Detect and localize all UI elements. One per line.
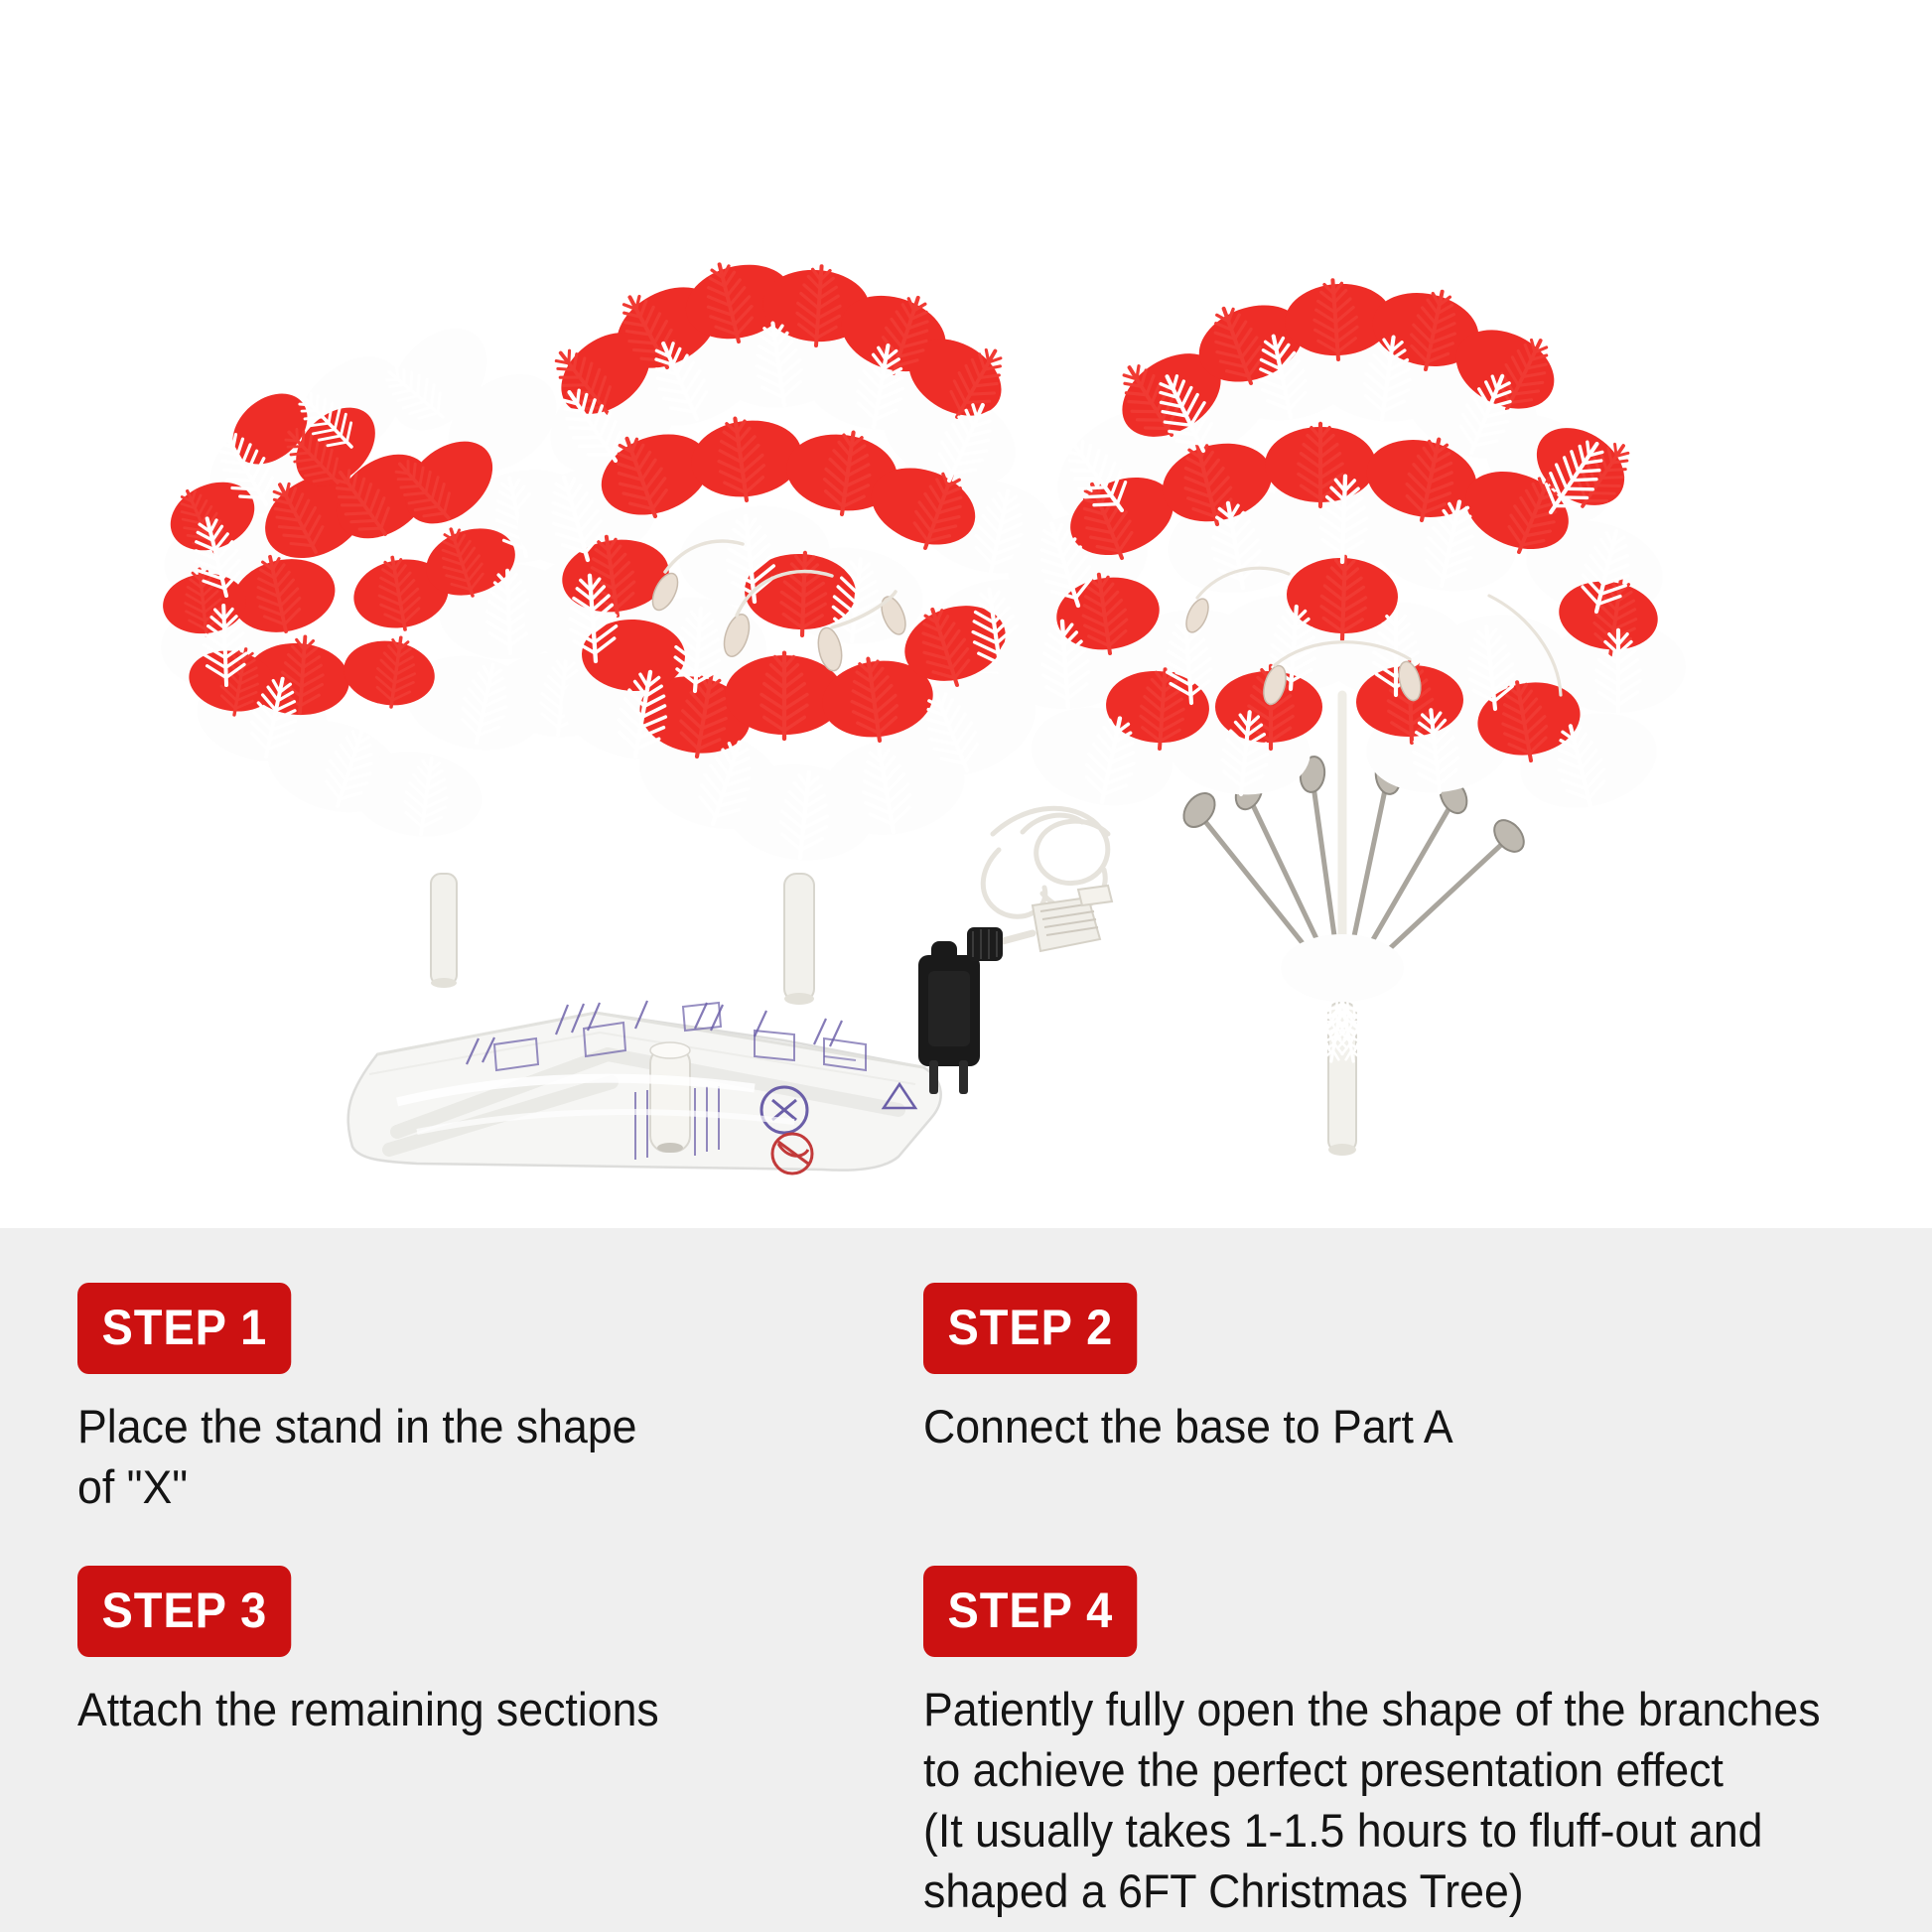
light-string-end-cap xyxy=(967,927,1003,961)
step-2-badge: STEP 2 xyxy=(923,1283,1138,1374)
pole-left xyxy=(431,874,457,988)
step-1-badge: STEP 1 xyxy=(77,1283,292,1374)
step-3-badge: STEP 3 xyxy=(77,1566,292,1657)
step-3-text: Attach the remaining sections xyxy=(77,1679,659,1739)
metal-tree-stand xyxy=(348,1001,941,1173)
step-4-text: Patiently fully open the shape of the br… xyxy=(923,1679,1821,1921)
product-photo xyxy=(0,0,1932,1228)
step-2-text: Connect the base to Part A xyxy=(923,1396,1453,1456)
step-4-block: STEP 4 Patiently fully open the shape of… xyxy=(923,1566,1867,1921)
assembly-steps-panel: STEP 1 Place the stand in the shape of "… xyxy=(0,1228,1932,1932)
step-1-block: STEP 1 Place the stand in the shape of "… xyxy=(77,1283,666,1517)
stand-center-tube xyxy=(650,1042,690,1153)
step-1-text: Place the stand in the shape of "X" xyxy=(77,1396,636,1517)
pole-middle xyxy=(784,874,814,1005)
product-photo-illustration xyxy=(0,0,1932,1228)
step-3-block: STEP 3 Attach the remaining sections xyxy=(77,1566,690,1739)
tree-section-right xyxy=(994,279,1686,1156)
led-light-string xyxy=(967,808,1112,961)
tree-section-middle xyxy=(506,254,1074,1005)
step-2-block: STEP 2 Connect the base to Part A xyxy=(923,1283,1481,1456)
page-title: EASY ASSEMBLY xyxy=(68,30,1864,149)
step-4-badge: STEP 4 xyxy=(923,1566,1138,1657)
